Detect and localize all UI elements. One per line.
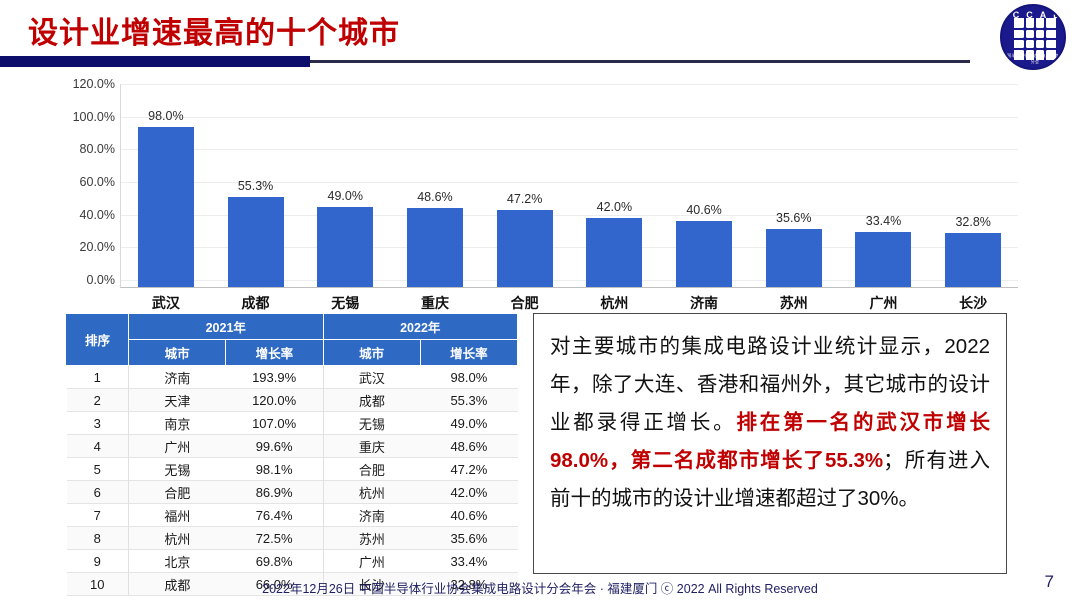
- table-header-year-2021: 2021年: [129, 314, 324, 340]
- chart-bar-group: 47.2%合肥: [480, 84, 570, 287]
- chart-bar-value-label: 55.3%: [238, 179, 273, 193]
- chart-y-axis-tick: 20.0%: [80, 240, 115, 254]
- commentary-paragraph: 对主要城市的集成电路设计业统计显示，2022年，除了大连、香港和福州外，其它城市…: [550, 328, 990, 518]
- table-row: 6合肥86.9%杭州42.0%: [67, 481, 518, 504]
- table-cell-rank: 9: [67, 550, 129, 573]
- table-cell-city-2021: 南京: [129, 412, 226, 435]
- chart-bar-group: 40.6%济南: [659, 84, 749, 287]
- chart-x-axis-tick: 广州: [869, 293, 897, 313]
- table-cell-city-2022: 无锡: [323, 412, 420, 435]
- chart-y-axis-tick: 100.0%: [73, 110, 115, 124]
- chart-y-axis-tick: 40.0%: [80, 208, 115, 222]
- table-cell-rank: 3: [67, 412, 129, 435]
- table-cell-rate-2022: 49.0%: [420, 412, 517, 435]
- chart-bar-value-label: 32.8%: [955, 215, 990, 229]
- table-cell-rate-2021: 72.5%: [226, 527, 323, 550]
- table-header-year-2022: 2022年: [323, 314, 518, 340]
- table-subheader-rate-2022: 增长率: [420, 340, 517, 366]
- table-cell-rate-2021: 99.6%: [226, 435, 323, 458]
- chart-bar-group: 55.3%成都: [211, 84, 301, 287]
- table-cell-rate-2021: 86.9%: [226, 481, 323, 504]
- chart-x-axis-tick: 济南: [690, 293, 718, 313]
- table-cell-rate-2022: 48.6%: [420, 435, 517, 458]
- chart-bar-value-label: 98.0%: [148, 109, 183, 123]
- table-row: 9北京69.8%广州33.4%: [67, 550, 518, 573]
- table-cell-rate-2021: 69.8%: [226, 550, 323, 573]
- chart-x-axis-tick: 成都: [242, 293, 270, 313]
- table-cell-rank: 4: [67, 435, 129, 458]
- chart-bar[interactable]: [586, 218, 642, 287]
- table-body: 1济南193.9%武汉98.0%2天津120.0%成都55.3%3南京107.0…: [67, 366, 518, 596]
- table-cell-city-2021: 合肥: [129, 481, 226, 504]
- chart-bar-value-label: 48.6%: [417, 190, 452, 204]
- table-cell-city-2022: 杭州: [323, 481, 420, 504]
- table-cell-rank: 1: [67, 366, 129, 389]
- table-cell-rank: 5: [67, 458, 129, 481]
- table-row: 3南京107.0%无锡49.0%: [67, 412, 518, 435]
- table-cell-rate-2022: 47.2%: [420, 458, 517, 481]
- table-cell-city-2021: 广州: [129, 435, 226, 458]
- table-row: 1济南193.9%武汉98.0%: [67, 366, 518, 389]
- table-cell-city-2022: 成都: [323, 389, 420, 412]
- commentary-textbox: 对主要城市的集成电路设计业统计显示，2022年，除了大连、香港和福州外，其它城市…: [533, 313, 1007, 574]
- table-cell-rate-2022: 55.3%: [420, 389, 517, 412]
- table-cell-city-2022: 济南: [323, 504, 420, 527]
- table-row: 7福州76.4%济南40.6%: [67, 504, 518, 527]
- header-rule-thick: [0, 56, 310, 67]
- table-cell-city-2021: 天津: [129, 389, 226, 412]
- chart-bar-value-label: 49.0%: [328, 189, 363, 203]
- chart-x-axis-tick: 长沙: [959, 293, 987, 313]
- growth-bar-chart: 120.0%100.0%80.0%60.0%40.0%20.0%0.0% 98.…: [62, 76, 1018, 288]
- table-cell-rate-2021: 76.4%: [226, 504, 323, 527]
- chart-bar-value-label: 35.6%: [776, 211, 811, 225]
- chart-bar[interactable]: [945, 233, 1001, 287]
- table-cell-rank: 2: [67, 389, 129, 412]
- chart-bar[interactable]: [855, 232, 911, 287]
- table-cell-city-2021: 无锡: [129, 458, 226, 481]
- chart-bar-value-label: 33.4%: [866, 214, 901, 228]
- table-row: 4广州99.6%重庆48.6%: [67, 435, 518, 458]
- table-cell-rate-2021: 98.1%: [226, 458, 323, 481]
- table-cell-rate-2022: 33.4%: [420, 550, 517, 573]
- slide: 设计业增速最高的十个城市 ICCAD 中国半导体行业协会集成电路设计分会 120…: [0, 0, 1080, 607]
- footer-text: 2022年12月26日 中国半导体行业协会集成电路设计分会年会 · 福建厦门 ⓒ…: [0, 578, 1080, 597]
- chart-bar[interactable]: [676, 221, 732, 287]
- table-cell-rank: 6: [67, 481, 129, 504]
- page-number: 7: [1045, 572, 1054, 592]
- table-cell-city-2022: 重庆: [323, 435, 420, 458]
- chart-y-axis-tick: 80.0%: [80, 142, 115, 156]
- table-cell-city-2021: 济南: [129, 366, 226, 389]
- table-subheader-city-2022: 城市: [323, 340, 420, 366]
- iccad-logo: ICCAD 中国半导体行业协会集成电路设计分会: [1000, 4, 1066, 70]
- chart-x-axis-tick: 苏州: [780, 293, 808, 313]
- chart-bar-value-label: 47.2%: [507, 192, 542, 206]
- chart-bar[interactable]: [228, 197, 284, 287]
- chart-bar[interactable]: [407, 208, 463, 287]
- page-title: 设计业增速最高的十个城市: [28, 8, 400, 52]
- chart-bar-group: 42.0%杭州: [570, 84, 660, 287]
- chart-bar-group: 48.6%重庆: [390, 84, 480, 287]
- table-cell-rank: 8: [67, 527, 129, 550]
- table-cell-rate-2021: 193.9%: [226, 366, 323, 389]
- chart-x-axis-tick: 合肥: [511, 293, 539, 313]
- table-cell-rate-2022: 98.0%: [420, 366, 517, 389]
- chart-bar-group: 98.0%武汉: [121, 84, 211, 287]
- chart-x-axis-tick: 武汉: [152, 293, 180, 313]
- chart-bar[interactable]: [766, 229, 822, 287]
- table-cell-rate-2022: 42.0%: [420, 481, 517, 504]
- table-cell-city-2021: 北京: [129, 550, 226, 573]
- chart-x-axis-tick: 无锡: [331, 293, 359, 313]
- chart-bar-group: 35.6%苏州: [749, 84, 839, 287]
- chart-y-axis-tick: 60.0%: [80, 175, 115, 189]
- chart-y-axis-tick: 120.0%: [73, 77, 115, 91]
- table-cell-city-2021: 杭州: [129, 527, 226, 550]
- chart-bar-group: 32.8%长沙: [928, 84, 1018, 287]
- chart-bar-group: 33.4%广州: [839, 84, 929, 287]
- chart-bar[interactable]: [317, 207, 373, 287]
- chart-bars: 98.0%武汉55.3%成都49.0%无锡48.6%重庆47.2%合肥42.0%…: [121, 84, 1018, 287]
- ranking-table: 排序 2021年 2022年 城市 增长率 城市 增长率 1济南193.9%武汉…: [66, 313, 518, 596]
- header-rule-thin: [310, 60, 970, 63]
- chart-bar-value-label: 42.0%: [597, 200, 632, 214]
- chart-y-axis-tick: 0.0%: [87, 273, 116, 287]
- chart-bar-value-label: 40.6%: [686, 203, 721, 217]
- table-cell-rate-2022: 35.6%: [420, 527, 517, 550]
- chart-x-axis-tick: 杭州: [600, 293, 628, 313]
- table-row: 8杭州72.5%苏州35.6%: [67, 527, 518, 550]
- table-subheader-city-2021: 城市: [129, 340, 226, 366]
- logo-subtitle: 中国半导体行业协会集成电路设计分会: [1002, 53, 1066, 65]
- table-cell-rate-2022: 40.6%: [420, 504, 517, 527]
- table-cell-rate-2021: 120.0%: [226, 389, 323, 412]
- table-cell-city-2022: 苏州: [323, 527, 420, 550]
- table-cell-city-2022: 武汉: [323, 366, 420, 389]
- chart-bar-group: 49.0%无锡: [300, 84, 390, 287]
- table-cell-city-2022: 合肥: [323, 458, 420, 481]
- chart-bar[interactable]: [138, 127, 194, 287]
- table-cell-rate-2021: 107.0%: [226, 412, 323, 435]
- table-subheader-rate-2021: 增长率: [226, 340, 323, 366]
- table-header-rank: 排序: [67, 314, 129, 366]
- table-row: 2天津120.0%成都55.3%: [67, 389, 518, 412]
- chart-bar[interactable]: [497, 210, 553, 287]
- table-cell-city-2022: 广州: [323, 550, 420, 573]
- chart-plot-area: 120.0%100.0%80.0%60.0%40.0%20.0%0.0% 98.…: [120, 84, 1018, 288]
- table-row: 5无锡98.1%合肥47.2%: [67, 458, 518, 481]
- chart-x-axis-tick: 重庆: [421, 293, 449, 313]
- table-cell-city-2021: 福州: [129, 504, 226, 527]
- table-cell-rank: 7: [67, 504, 129, 527]
